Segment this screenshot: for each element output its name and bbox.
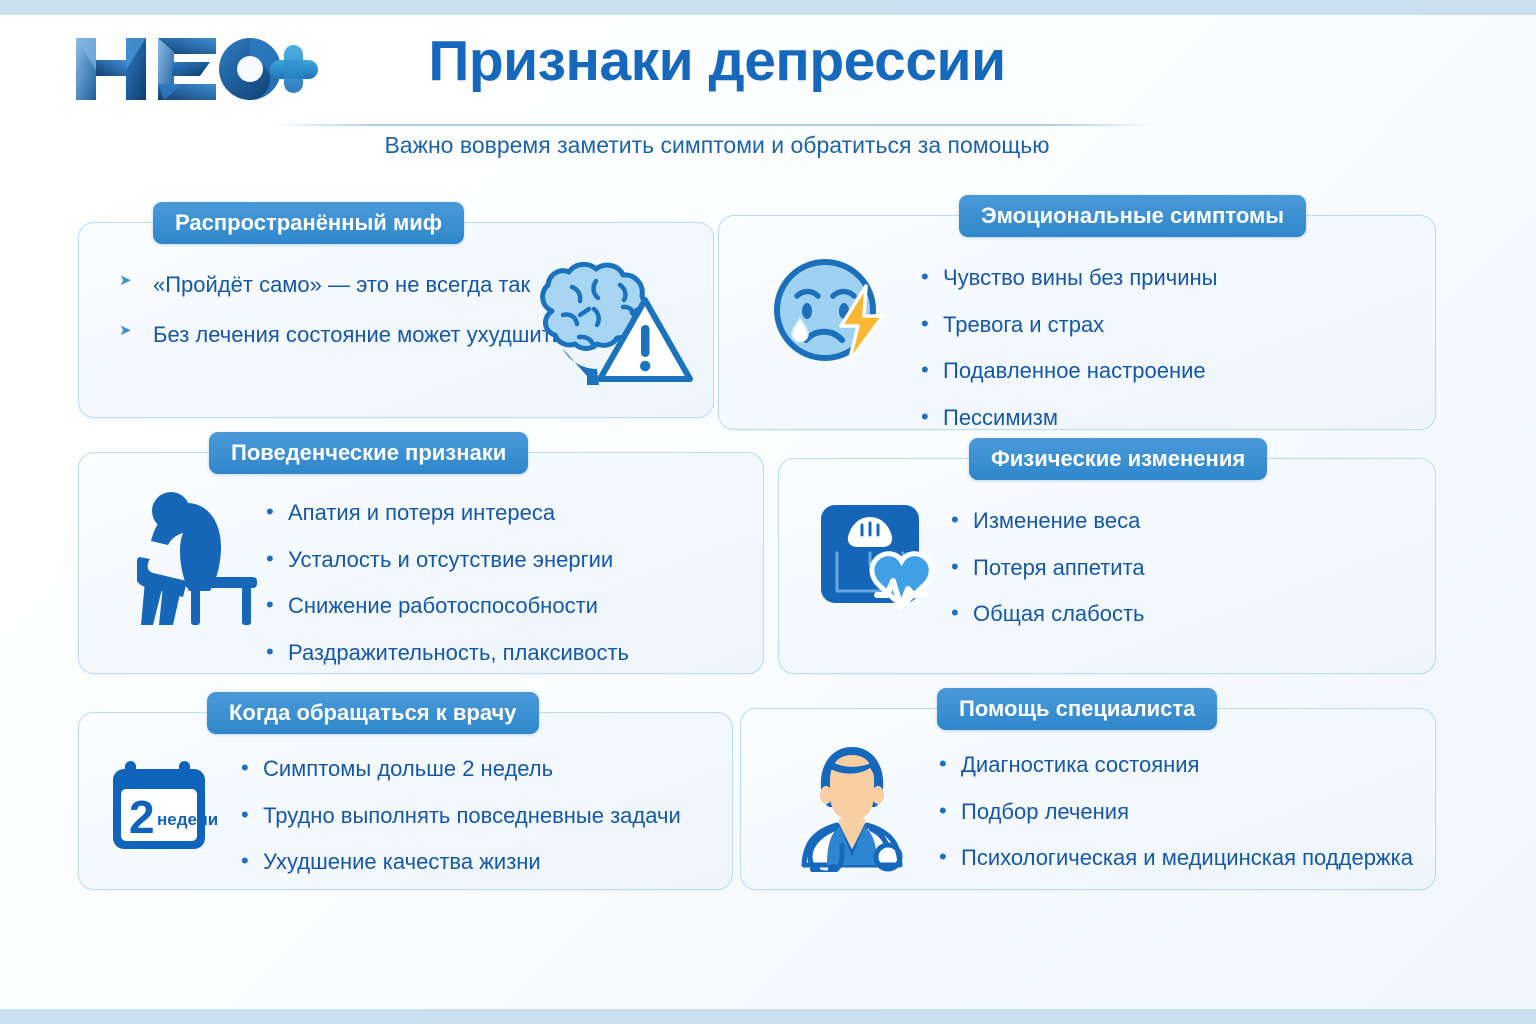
card-emotional: Эмоциональные симптомы Чувство вины без …	[718, 215, 1436, 430]
calendar-number: 2	[129, 791, 155, 843]
card-help-badge: Помощь специалиста	[937, 688, 1217, 730]
card-physical-badge: Физические изменения	[969, 438, 1267, 480]
list-item: Тревога и страх	[919, 311, 1217, 339]
sad-face-lightning-icon	[767, 248, 892, 378]
card-behavior: Поведенческие признаки Апатия и потеря и…	[78, 452, 764, 674]
top-edge-strip	[0, 0, 1536, 15]
page-subtitle: Важно вовремя заметить симптоми и обрати…	[272, 132, 1162, 159]
list-item: Потеря аппетита	[949, 554, 1145, 582]
list-item: Подавленное настроение	[919, 357, 1217, 385]
doctor-icon	[785, 737, 920, 877]
infographic-poster: Признаки депрессии Важно вовремя заметит…	[0, 0, 1536, 1024]
sitting-person-icon	[137, 485, 257, 630]
list-item: Подбор лечения	[937, 798, 1413, 826]
page-title: Признаки депрессии	[272, 32, 1162, 92]
list-item: Чувство вины без причины	[919, 264, 1217, 292]
card-doctor-list: Симптомы дольше 2 недель Трудно выполнят…	[239, 755, 681, 895]
card-myth-list: «Пройдёт само» — это не всегда так Без л…	[119, 271, 586, 370]
list-item: Диагностика состояния	[937, 751, 1413, 779]
card-behavior-list: Апатия и потеря интереса Усталость и отс…	[264, 499, 629, 685]
card-physical-list: Изменение веса Потеря аппетита Общая сла…	[949, 507, 1145, 647]
card-specialist-help: Помощь специалиста Диагн	[740, 708, 1436, 890]
card-behavior-badge: Поведенческие признаки	[209, 432, 528, 474]
list-item: Психологическая и медицинская поддержка	[937, 844, 1413, 872]
list-item: Изменение веса	[949, 507, 1145, 535]
calendar-icon: 2 недели	[107, 757, 217, 862]
card-myth: Распространённый миф «Пройдёт само» — эт…	[78, 222, 714, 418]
list-item: Без лечения состояние может ухудшиться	[119, 321, 586, 349]
card-emotional-badge: Эмоциональные симптомы	[959, 195, 1306, 237]
list-item: «Пройдёт само» — это не всегда так	[119, 271, 586, 299]
card-emotional-list: Чувство вины без причины Тревога и страх…	[919, 264, 1217, 450]
list-item: Трудно выполнять повседневные задачи	[239, 802, 681, 830]
calendar-unit: недели	[157, 810, 217, 829]
card-doctor-badge: Когда обращаться к врачу	[207, 692, 539, 734]
bottom-edge-strip	[0, 1009, 1536, 1024]
list-item: Симптомы дольше 2 недель	[239, 755, 681, 783]
title-divider	[272, 124, 1156, 126]
card-help-list: Диагностика состояния Подбор лечения Пси…	[937, 751, 1413, 891]
list-item: Ухудшение качества жизни	[239, 848, 681, 876]
card-myth-badge: Распространённый миф	[153, 202, 464, 244]
list-item: Апатия и потеря интереса	[264, 499, 629, 527]
card-when-to-see-doctor: Когда обращаться к врачу 2 недели Симпто…	[78, 712, 733, 890]
list-item: Общая слабость	[949, 600, 1145, 628]
list-item: Снижение работоспособности	[264, 592, 629, 620]
list-item: Пессимизм	[919, 404, 1217, 432]
card-physical: Физические изменения Изменение веса Поте…	[778, 458, 1436, 674]
scale-heart-icon	[815, 491, 945, 626]
brain-warning-icon	[519, 253, 694, 398]
list-item: Раздражительность, плаксивость	[264, 639, 629, 667]
list-item: Усталость и отсутствие энергии	[264, 546, 629, 574]
